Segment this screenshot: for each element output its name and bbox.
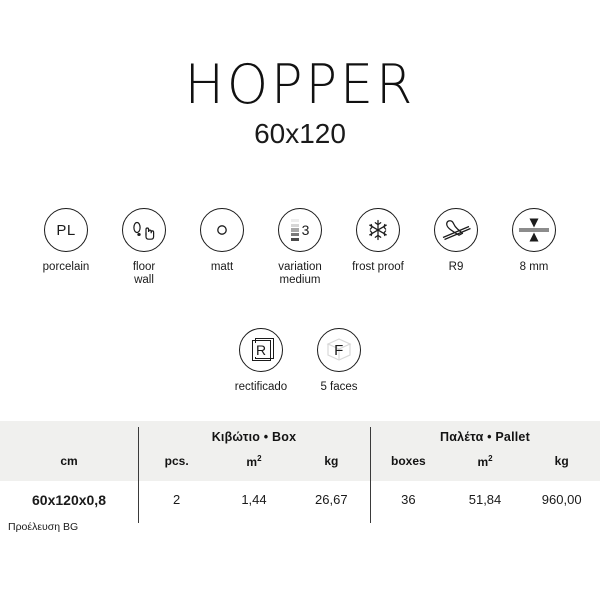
column-header-cm: cm [0, 454, 138, 469]
column-header-pallet-boxes: boxes [370, 454, 447, 469]
column-header-pallet-m2: m2 [447, 454, 524, 469]
feature-rectified-label: rectificado [235, 381, 287, 394]
feature-frost-proof-label: frost proof [352, 261, 404, 274]
feature-variation: 3 variation medium [261, 208, 339, 287]
variation-value: 3 [302, 223, 310, 237]
cells-box: 2 1,44 26,67 [138, 492, 370, 508]
table-row: 60x120x0,8 2 1,44 26,67 36 51,84 960,00 [0, 481, 600, 519]
feature-slip-rating-label: R9 [449, 261, 464, 274]
group-header-box: Κιβώτιο • Box [138, 430, 370, 444]
cell-box-m2: 1,44 [215, 492, 292, 508]
column-headers-pallet: boxes m2 kg [370, 454, 600, 469]
group-header-size [0, 430, 138, 444]
feature-slip-rating: R9 [417, 208, 495, 274]
variation-bar-2 [291, 224, 299, 227]
origin-note: Προέλευση BG [8, 521, 78, 533]
cell-pallet-boxes: 36 [370, 492, 447, 508]
thickness-bar [519, 228, 549, 232]
matt-icon [200, 208, 244, 252]
feature-matt: matt [183, 208, 261, 274]
feature-five-faces: F 5 faces [300, 328, 378, 394]
slip-rating-icon [434, 208, 478, 252]
snowflake-icon [356, 208, 400, 252]
column-header-box-pcs: pcs. [138, 454, 215, 469]
table-row-cells: 60x120x0,8 2 1,44 26,67 36 51,84 960,00 [0, 492, 600, 508]
column-headers-box: pcs. m2 kg [138, 454, 370, 469]
five-faces-letter: F [334, 342, 344, 359]
cell-pallet-m2: 51,84 [447, 492, 524, 508]
porcelain-icon: PL [44, 208, 88, 252]
variation-gradient-bars [291, 219, 299, 241]
foot-hand-glyph [130, 218, 158, 242]
thickness-gauge-glyph [519, 217, 549, 243]
feature-floor-wall-label: floor wall [133, 261, 155, 287]
column-header-pallet-m2-sup: 2 [488, 454, 492, 463]
rectified-letter: R [255, 343, 267, 357]
thickness-icon [512, 208, 556, 252]
feature-variation-label: variation medium [278, 261, 321, 287]
cell-box-pcs: 2 [138, 492, 215, 508]
title-block: HOPPER 60x120 [0, 58, 600, 150]
page-title: HOPPER [9, 58, 591, 112]
cell-pallet-kg: 960,00 [523, 492, 600, 508]
table-group-header-row: Κιβώτιο • Box Παλέτα • Pallet [0, 421, 600, 444]
specification-table: Κιβώτιο • Box Παλέτα • Pallet cm pcs. m2… [0, 421, 600, 519]
cell-box-kg: 26,67 [293, 492, 370, 508]
feature-floor-wall: floor wall [105, 208, 183, 287]
column-header-box-m2-base: m [246, 455, 257, 469]
feature-icon-row-secondary: R rectificado F 5 faces [0, 328, 600, 394]
feature-five-faces-label: 5 faces [320, 381, 357, 394]
feature-icon-row-primary: PL porcelain floor wall ma [0, 208, 600, 287]
dot-glyph [215, 223, 229, 237]
column-header-box-m2: m2 [215, 454, 292, 469]
floor-wall-icon [122, 208, 166, 252]
feature-matt-label: matt [211, 261, 233, 274]
variation-glyph: 3 [291, 219, 310, 241]
foot-slope-glyph [439, 215, 473, 245]
feature-rectified: R rectificado [222, 328, 300, 394]
variation-bar-1 [291, 219, 299, 222]
cells-pallet: 36 51,84 960,00 [370, 492, 600, 508]
feature-porcelain-label: porcelain [43, 261, 90, 274]
feature-frost-proof: frost proof [339, 208, 417, 274]
column-header-box-m2-sup: 2 [257, 454, 261, 463]
table-header: Κιβώτιο • Box Παλέτα • Pallet cm pcs. m2… [0, 421, 600, 481]
rectified-icon: R [239, 328, 283, 372]
five-faces-icon: F [317, 328, 361, 372]
table-column-header-row: cm pcs. m2 kg boxes m2 kg [0, 444, 600, 469]
feature-thickness: 8 mm [495, 208, 573, 274]
table-divider-right [370, 427, 371, 523]
group-header-pallet: Παλέτα • Pallet [370, 430, 600, 444]
snowflake-glyph [366, 218, 390, 242]
column-header-pallet-m2-base: m [477, 455, 488, 469]
column-header-box-kg: kg [293, 454, 370, 469]
variation-bar-3 [291, 228, 299, 231]
variation-bar-4 [291, 233, 299, 236]
variation-bar-5 [291, 238, 299, 241]
variation-icon: 3 [278, 208, 322, 252]
feature-thickness-label: 8 mm [520, 261, 549, 274]
rectified-frame-glyph: R [252, 340, 271, 361]
porcelain-icon-text: PL [56, 222, 75, 239]
cell-size: 60x120x0,8 [0, 492, 138, 508]
column-header-pallet-kg: kg [523, 454, 600, 469]
feature-porcelain: PL porcelain [27, 208, 105, 274]
table-divider-left [138, 427, 139, 523]
product-size: 60x120 [0, 118, 600, 150]
